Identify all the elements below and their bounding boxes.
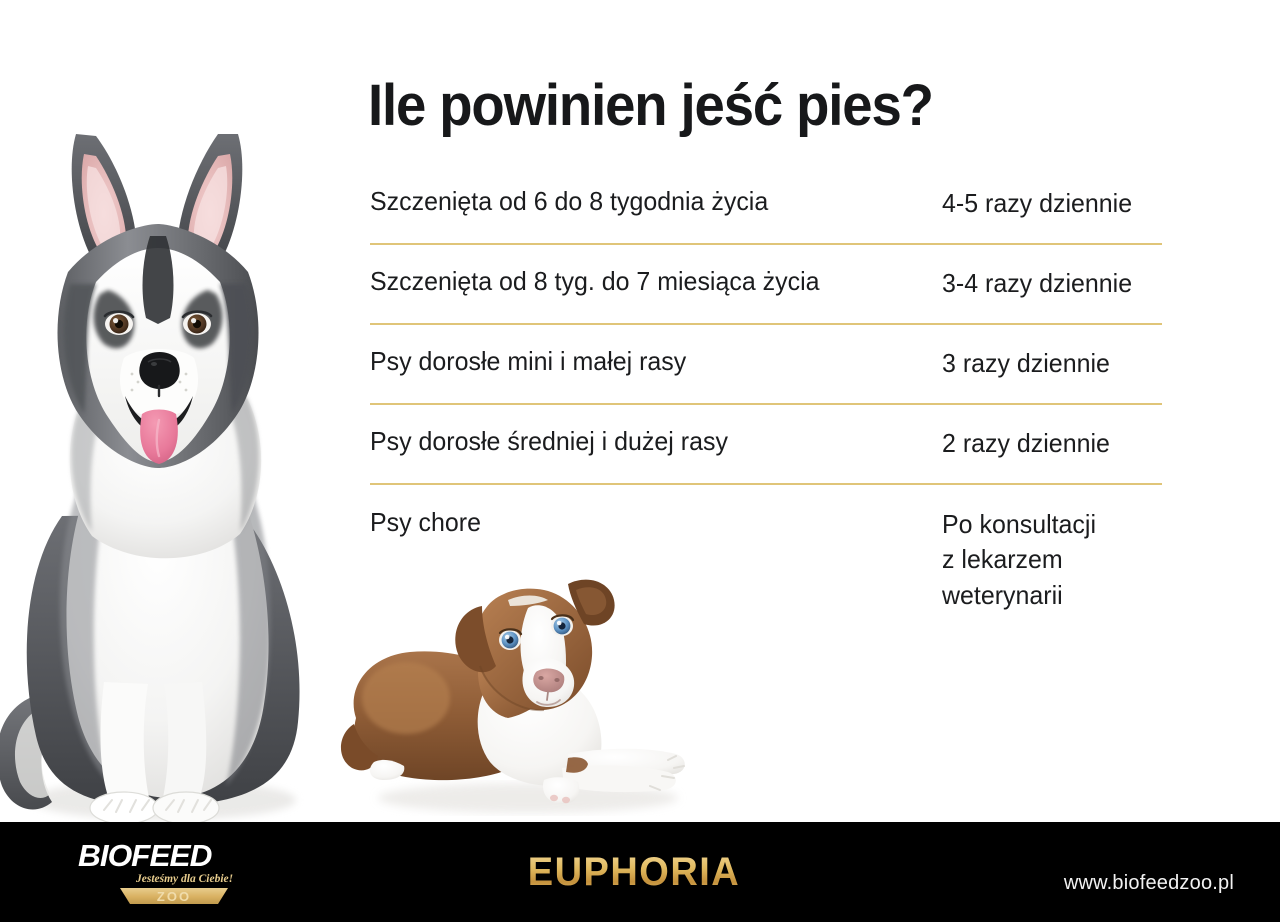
- table-row: Szczenięta od 8 tyg. do 7 miesiąca życia…: [370, 245, 1162, 323]
- footer-bar: BIOFEED Jesteśmy dla Ciebie! ZOO: [0, 822, 1280, 922]
- page-title: Ile powinien jeść pies?: [368, 77, 933, 135]
- biofeed-tagline: Jesteśmy dla Ciebie!: [135, 873, 233, 885]
- table-row: Psy dorosłe średniej i dużej rasy 2 razy…: [370, 405, 1162, 483]
- biofeed-wordmark: BIOFEED: [78, 838, 212, 873]
- biofeed-zoo-logo[interactable]: BIOFEED Jesteśmy dla Ciebie! ZOO: [76, 834, 238, 908]
- table-row: Psy chore Po konsultacji z lekarzem wete…: [370, 485, 1162, 625]
- row-value: 4-5 razy dziennie: [942, 165, 1153, 243]
- feeding-frequency-table: Szczenięta od 6 do 8 tygodnia życia 4-5 …: [370, 165, 1162, 624]
- row-label: Psy chore: [370, 485, 919, 548]
- website-url[interactable]: www.biofeedzoo.pl: [1064, 872, 1234, 895]
- zoo-badge-label: ZOO: [157, 889, 191, 904]
- table-row: Szczenięta od 6 do 8 tygodnia życia 4-5 …: [370, 165, 1162, 243]
- euphoria-logo[interactable]: EUPHORIA: [478, 840, 790, 898]
- table-row: Psy dorosłe mini i małej rasy 3 razy dzi…: [370, 325, 1162, 403]
- row-value: 3-4 razy dziennie: [942, 245, 1153, 323]
- row-value: Po konsultacji z lekarzem weterynarii: [942, 485, 1153, 625]
- siberian-husky-sitting-photo: [0, 96, 340, 826]
- infographic-poster: Ile powinien jeść pies? Szczenięta od 6 …: [0, 0, 1280, 922]
- row-value: 2 razy dziennie: [942, 405, 1153, 483]
- row-label: Psy dorosłe średniej i dużej rasy: [370, 405, 919, 478]
- row-label: Szczenięta od 6 do 8 tygodnia życia: [370, 165, 919, 238]
- row-label: Szczenięta od 8 tyg. do 7 miesiąca życia: [370, 245, 919, 318]
- row-label: Psy dorosłe mini i małej rasy: [370, 325, 919, 398]
- row-value: 3 razy dziennie: [942, 325, 1153, 403]
